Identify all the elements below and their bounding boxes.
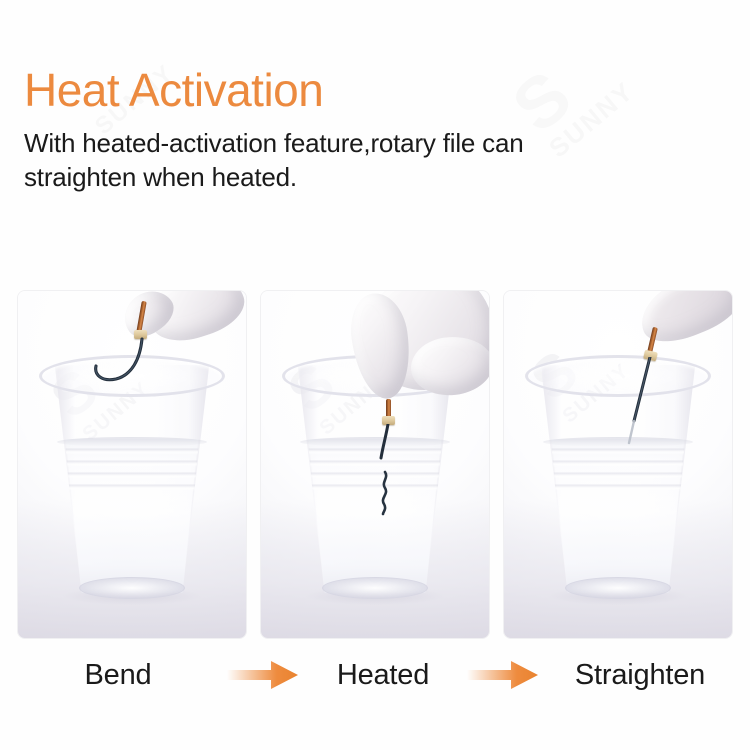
cup-ribs bbox=[534, 443, 702, 495]
caption-row: Bend Heated bbox=[18, 652, 732, 698]
file-blade-bent bbox=[80, 337, 160, 397]
file-blade-dipping bbox=[361, 424, 409, 516]
panel-straighten: S SUNNY bbox=[504, 291, 732, 638]
caption-step-3-label: Straighten bbox=[575, 658, 705, 692]
panel-heated: S SUNNY bbox=[261, 291, 489, 638]
caption-step-2-label: Heated bbox=[337, 658, 429, 692]
gloved-hand bbox=[631, 291, 732, 352]
arrow-right-icon bbox=[227, 660, 299, 690]
caption-step-1-label: Bend bbox=[85, 658, 152, 692]
arrow-1 bbox=[218, 652, 308, 698]
caption-step-2: Heated bbox=[308, 652, 458, 698]
infographic-page: S SUNNY SUNNY Heat Activation With heate… bbox=[0, 0, 750, 750]
caption-step-1: Bend bbox=[18, 652, 218, 698]
arrow-right-icon bbox=[467, 660, 539, 690]
cup-base bbox=[565, 577, 671, 599]
cup-ribs bbox=[48, 443, 216, 495]
cup-base bbox=[322, 577, 428, 599]
page-title: Heat Activation bbox=[24, 62, 724, 118]
caption-step-3: Straighten bbox=[548, 652, 732, 698]
page-subtitle: With heated-activation feature,rotary fi… bbox=[24, 126, 634, 194]
photo-strip: S SUNNY bbox=[18, 291, 732, 638]
cup-base bbox=[79, 577, 185, 599]
arrow-2 bbox=[458, 652, 548, 698]
cup-waterline bbox=[57, 437, 207, 447]
header: Heat Activation With heated-activation f… bbox=[24, 62, 724, 194]
file-blade-straight bbox=[612, 357, 668, 445]
panel-bend: S SUNNY bbox=[18, 291, 246, 638]
